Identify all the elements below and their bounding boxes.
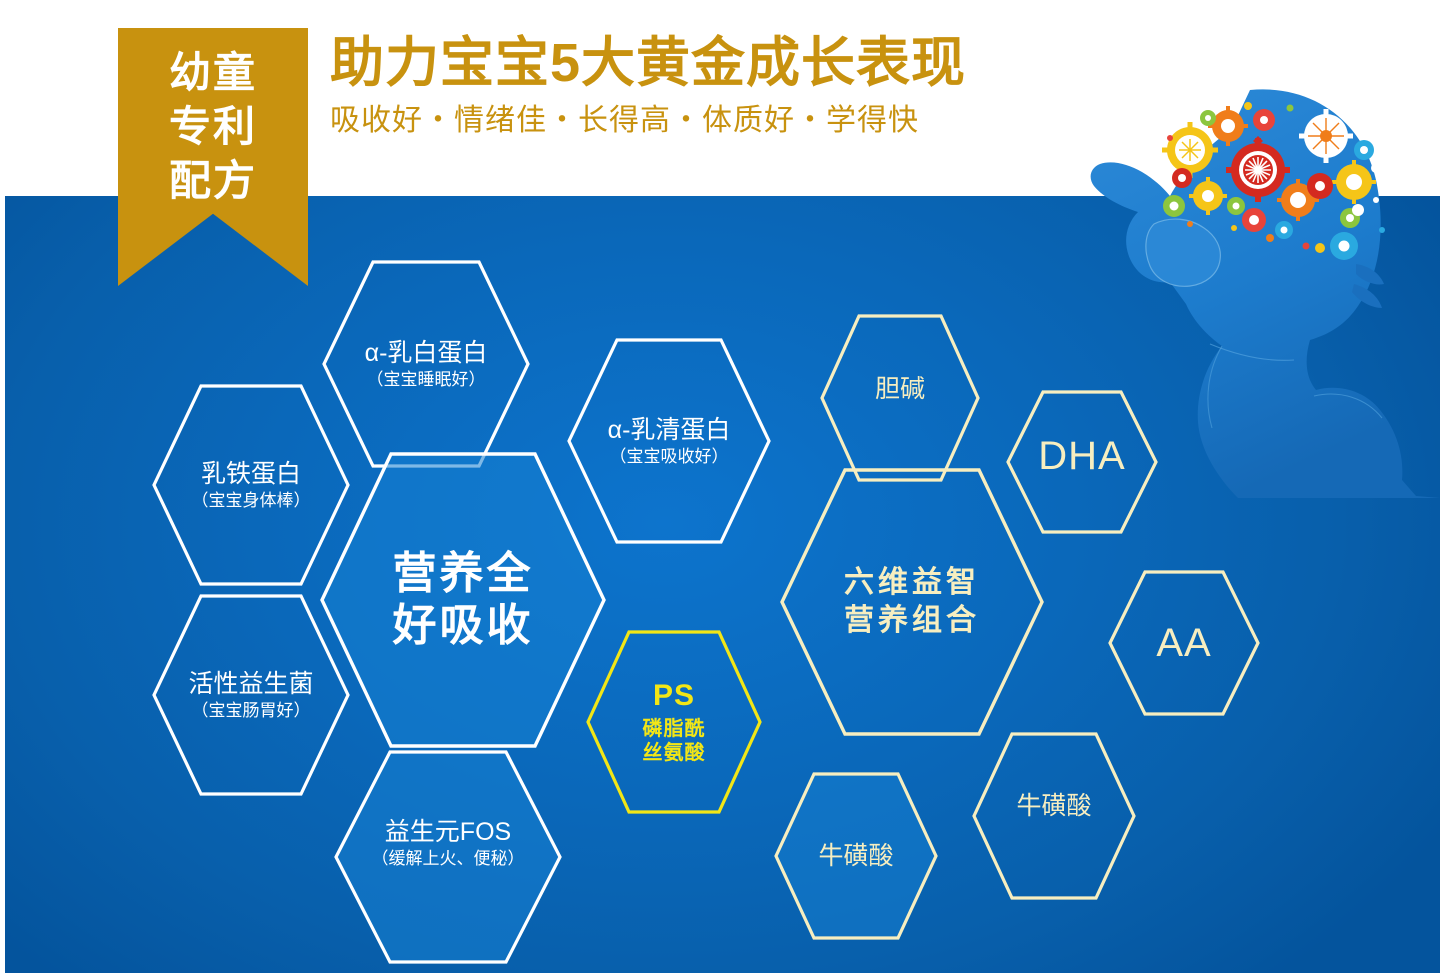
hex-prebiotic-fos[interactable]: 益生元FOS （缓解上火、便秘）	[332, 748, 564, 966]
hex-title: PS	[643, 679, 706, 714]
page-title: 助力宝宝5大黄金成长表现	[330, 34, 1090, 92]
hex-title: AA	[1156, 620, 1211, 666]
hex-title: 胆碱	[875, 375, 925, 404]
hex-title: 乳铁蛋白	[192, 460, 311, 489]
hex-subtitle: （缓解上火、便秘）	[372, 849, 525, 869]
hex-title: 六维益智	[844, 564, 980, 602]
hex-subtitle: （宝宝睡眠好）	[365, 370, 488, 390]
ribbon-line-1: 幼童	[169, 46, 257, 100]
hex-phosphatidylserine[interactable]: PS 磷脂酰 丝氨酸	[584, 628, 764, 816]
header-block: 助力宝宝5大黄金成长表现 吸收好・情绪佳・长得高・体质好・学得快	[330, 34, 1090, 140]
hex-title: α-乳白蛋白	[365, 339, 488, 368]
hex-subtitle: 好吸收	[393, 600, 534, 652]
hex-subtitle: （宝宝身体棒）	[192, 491, 311, 511]
hex-title: DHA	[1038, 433, 1125, 479]
ribbon-line-3: 配方	[169, 154, 257, 208]
hex-alpha-whey-protein[interactable]: α-乳清蛋白 （宝宝吸收好）	[565, 336, 773, 546]
hex-dha[interactable]: DHA	[1004, 388, 1160, 536]
hex-subtitle: （宝宝肠胃好）	[188, 701, 313, 721]
hex-subtitle-line-1: 磷脂酰	[643, 717, 706, 741]
hex-aa[interactable]: AA	[1106, 568, 1262, 718]
hex-title: 益生元FOS	[372, 818, 525, 847]
hex-subtitle: （宝宝吸收好）	[608, 447, 731, 467]
hex-choline[interactable]: 胆碱	[818, 312, 982, 484]
hex-title: α-乳清蛋白	[608, 416, 731, 445]
hex-subtitle-line-2: 丝氨酸	[643, 741, 706, 765]
hex-title: 牛磺酸	[818, 842, 893, 871]
hex-title: 活性益生菌	[188, 670, 313, 699]
infographic-root: 幼童 专利 配方 助力宝宝5大黄金成长表现 吸收好・情绪佳・长得高・体质好・学得…	[0, 0, 1440, 973]
hex-subtitle: 营养组合	[844, 602, 980, 640]
hex-title: 牛磺酸	[1016, 792, 1091, 821]
hex-taurine-right[interactable]: 牛磺酸	[970, 730, 1138, 902]
page-subtitle: 吸收好・情绪佳・长得高・体质好・学得快	[330, 102, 1090, 140]
hex-title: 营养全	[393, 548, 534, 600]
hex-taurine-left[interactable]: 牛磺酸	[772, 770, 940, 942]
ribbon-line-2: 专利	[169, 100, 257, 154]
